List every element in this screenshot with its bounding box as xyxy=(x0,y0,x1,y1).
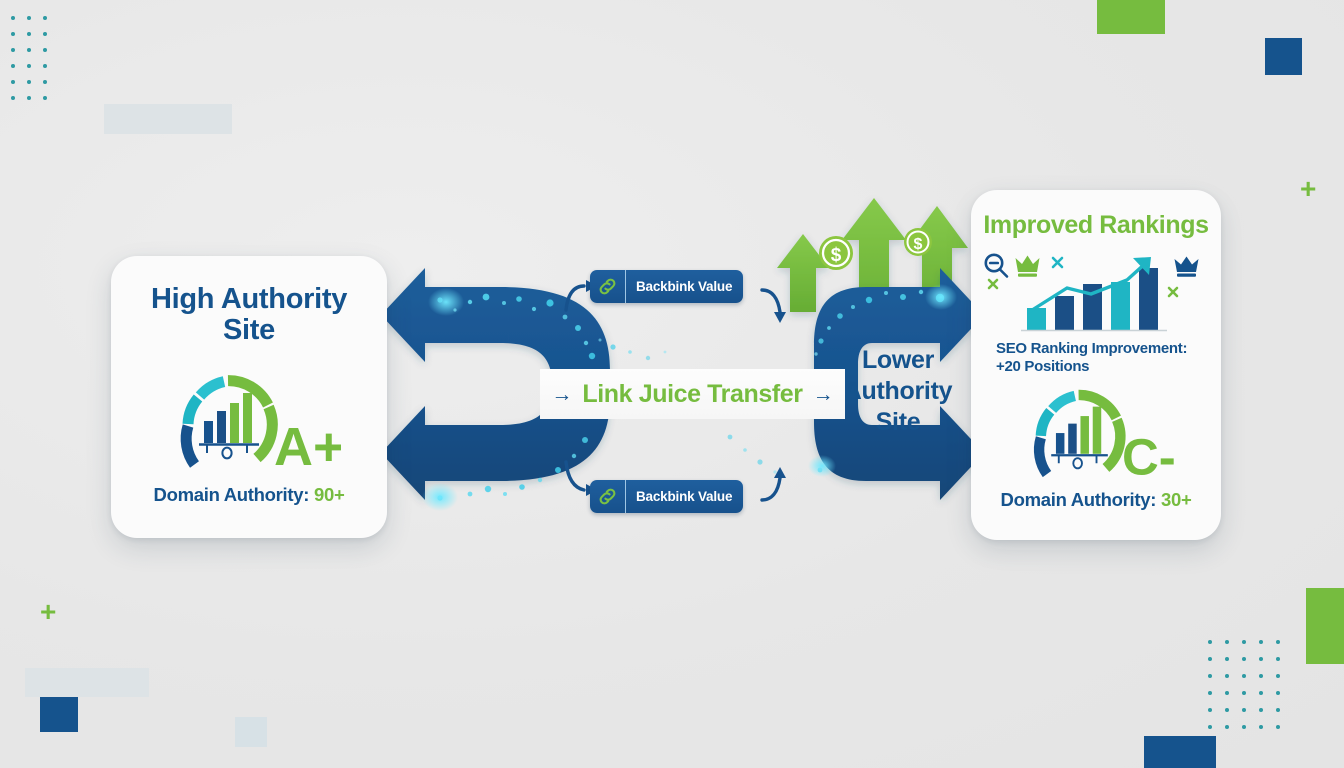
gauge-bars xyxy=(1056,406,1101,453)
authority-gauge-icon: C- xyxy=(1020,384,1190,489)
backlink-value-badge-top[interactable]: Backbink Value xyxy=(590,270,743,303)
lower-site-line2: Authority xyxy=(838,376,958,407)
x-mark-icon xyxy=(989,280,997,288)
dollar-coin-icon: $ xyxy=(904,228,932,256)
authority-grade-left: A+ xyxy=(274,417,341,475)
backlink-value-badge-bottom[interactable]: Backbink Value xyxy=(590,480,743,513)
crown-blue-icon xyxy=(1175,256,1199,276)
lower-site-line3: Site xyxy=(838,407,958,438)
svg-text:$: $ xyxy=(914,236,923,253)
infographic-canvas: ++ xyxy=(0,0,1344,768)
authority-gauge-icon: A+ xyxy=(171,369,341,480)
arrow-right-icon-right: → xyxy=(813,384,834,405)
domain-authority-right: Domain Authority: 30+ xyxy=(1001,489,1192,511)
crown-green-icon xyxy=(1016,255,1040,276)
high-authority-site-card[interactable]: High Authority Site xyxy=(111,256,387,538)
lower-site-line1: Lower xyxy=(838,345,958,376)
seo-caption-line2: +20 Positions xyxy=(996,358,1196,376)
authority-grade-right: C- xyxy=(1122,428,1176,483)
connector-arrow-from-bottom-badge xyxy=(762,478,780,500)
chain-link-icon xyxy=(590,480,626,513)
domain-authority-value: 30+ xyxy=(1161,489,1191,510)
connector-arrow-from-top-badge xyxy=(762,290,780,312)
card-title-line2: Site xyxy=(151,315,347,346)
dollar-coin-icon: $ xyxy=(819,236,853,270)
card-title-high-authority: High Authority Site xyxy=(151,284,347,347)
domain-authority-label: Domain Authority: xyxy=(154,484,310,505)
seo-ranking-chart xyxy=(981,250,1211,336)
backlink-value-label: Backbink Value xyxy=(626,279,743,294)
backlink-value-label: Backbink Value xyxy=(626,489,743,504)
arrow-right-icon-left: → xyxy=(551,384,572,405)
domain-authority-left: Domain Authority: 90+ xyxy=(154,484,345,506)
lower-authority-site-label: Lower Authority Site xyxy=(838,345,958,438)
domain-authority-value: 90+ xyxy=(314,484,344,505)
improved-rankings-card[interactable]: Improved Rankings xyxy=(971,190,1221,540)
card-title-line1: High Authority xyxy=(151,284,347,315)
gauge-bars xyxy=(204,393,252,443)
x-mark-icon xyxy=(1053,258,1062,267)
seo-ranking-caption: SEO Ranking Improvement: +20 Positions xyxy=(996,340,1196,376)
domain-authority-label: Domain Authority: xyxy=(1001,489,1157,510)
magnifier-minus-icon xyxy=(986,254,1007,276)
link-juice-transfer-band: → Link Juice Transfer → xyxy=(540,369,845,419)
x-mark-icon xyxy=(1169,288,1177,296)
link-juice-transfer-label: Link Juice Transfer xyxy=(582,380,802,409)
seo-caption-line1: SEO Ranking Improvement: xyxy=(996,340,1196,358)
svg-text:$: $ xyxy=(831,245,842,266)
chain-link-icon xyxy=(590,270,626,303)
card-title-improved-rankings: Improved Rankings xyxy=(983,212,1208,240)
